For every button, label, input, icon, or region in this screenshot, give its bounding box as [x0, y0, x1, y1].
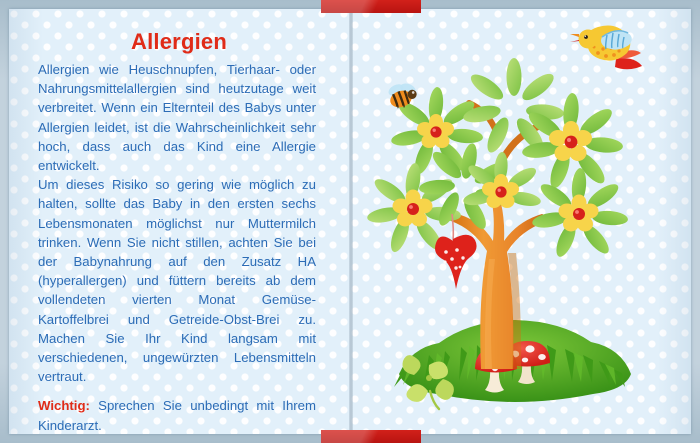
leaf-cluster — [531, 167, 628, 259]
right-page — [353, 9, 691, 434]
body-copy: Allergien wie Heuschnupfen, Tierhaar- od… — [38, 60, 316, 435]
bee-icon — [387, 81, 420, 110]
bird-icon — [570, 26, 642, 70]
important-note: Wichtig: Sprechen Sie unbedingt mit Ihre… — [38, 396, 316, 434]
page-title: Allergien — [9, 29, 349, 55]
important-keyword: Wichtig: — [38, 398, 90, 413]
paragraph-1: Allergien wie Heuschnupfen, Tierhaar- od… — [38, 60, 316, 175]
left-page: Allergien Allergien wie Heuschnupfen, Ti… — [9, 9, 349, 434]
paragraph-2: Um dieses Risiko so gering wie möglich z… — [38, 175, 316, 386]
tree-illustration — [353, 9, 691, 434]
book-spread: Allergien Allergien wie Heuschnupfen, Ti… — [0, 0, 700, 443]
